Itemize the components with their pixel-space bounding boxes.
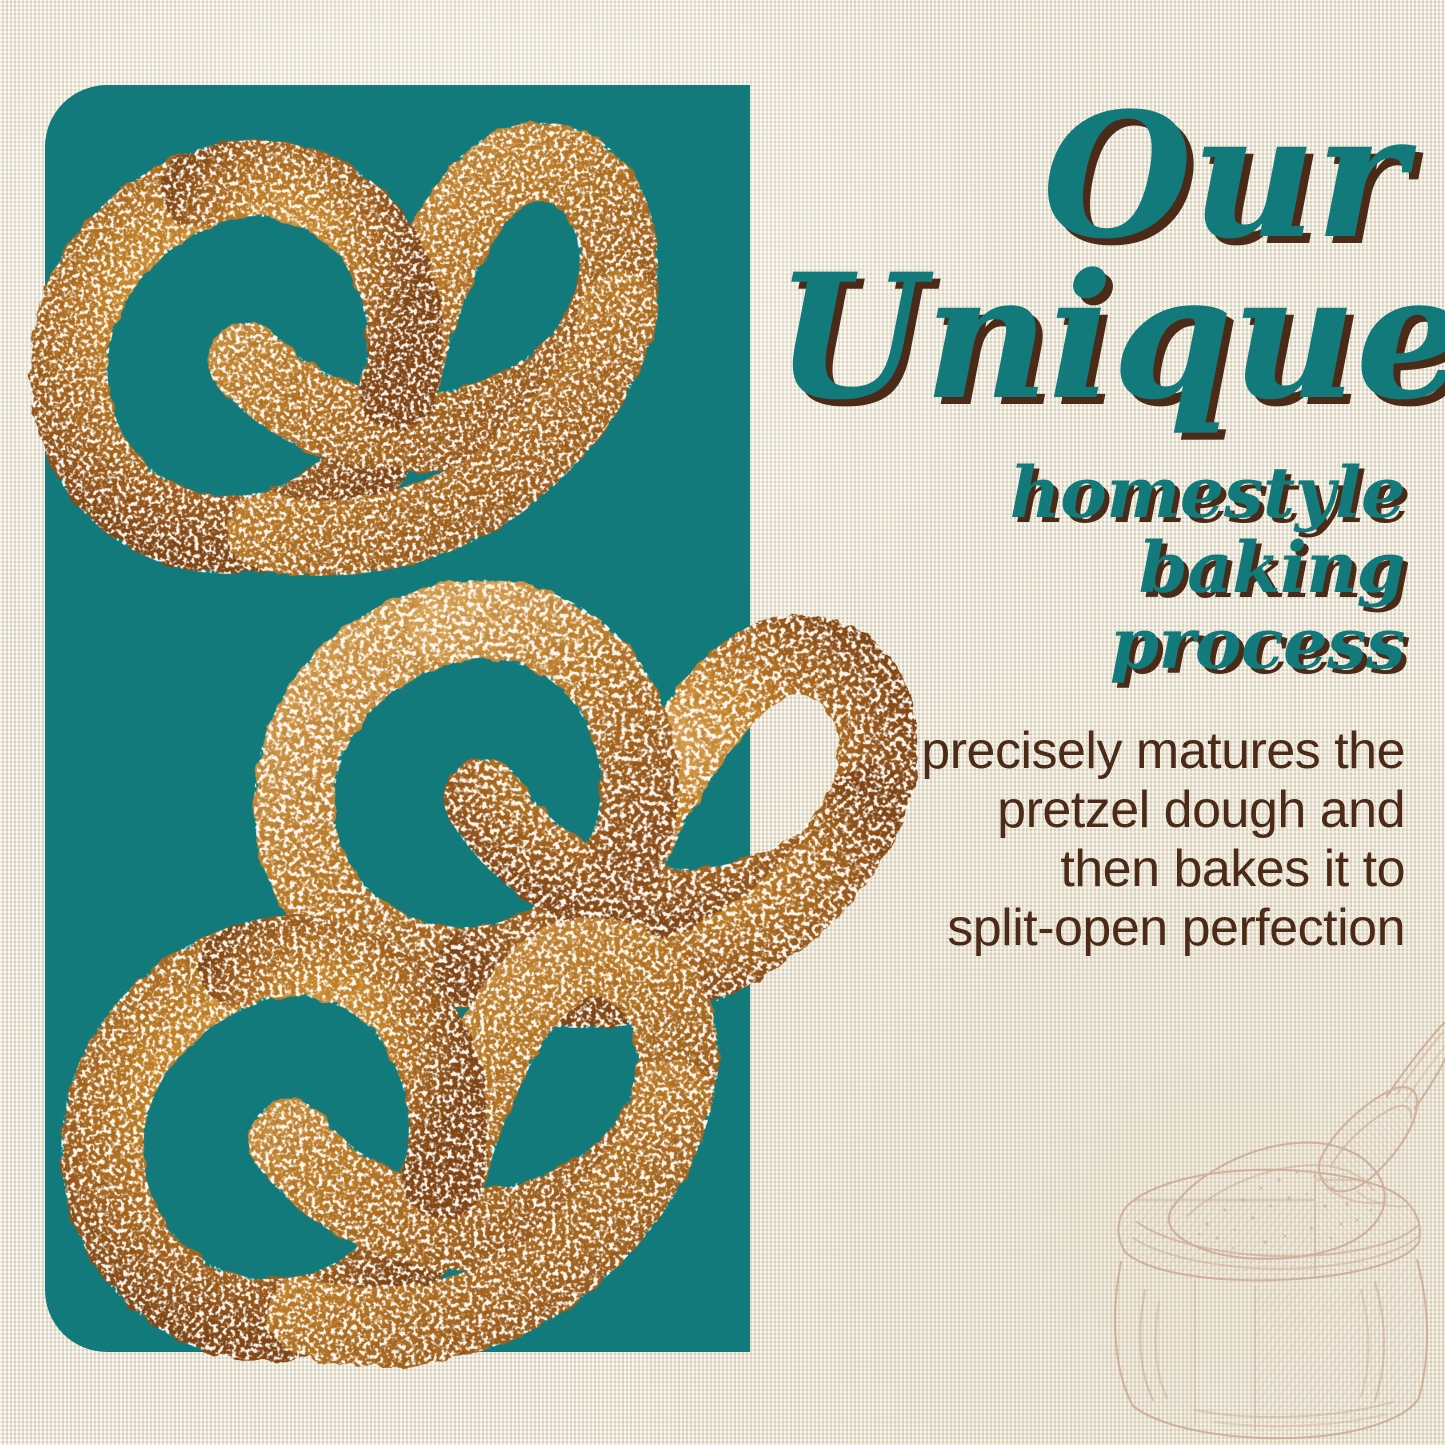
body-copy: precisely matures the pretzel dough and … bbox=[775, 722, 1405, 959]
subheadline-line-2: baking bbox=[775, 530, 1405, 606]
subheadline-line-3: process bbox=[775, 606, 1405, 682]
body-copy-line-3: then bakes it to bbox=[775, 840, 1405, 899]
page-title: Our Unique bbox=[775, 100, 1405, 413]
headline-line-2: Unique bbox=[775, 261, 1405, 412]
body-copy-line-2: pretzel dough and bbox=[775, 781, 1405, 840]
pretzel-top bbox=[20, 80, 660, 600]
pretzel-bottom bbox=[55, 850, 715, 1390]
flour-sack-with-scoop-illustration bbox=[1075, 1010, 1445, 1445]
poster-canvas: Our Unique homestyle baking process prec… bbox=[0, 0, 1445, 1445]
subheadline-line-1: homestyle bbox=[775, 455, 1405, 531]
copy-column: Our Unique homestyle baking process prec… bbox=[775, 100, 1405, 959]
headline-line-1: Our bbox=[775, 100, 1405, 251]
body-copy-line-1: precisely matures the bbox=[775, 722, 1405, 781]
body-copy-line-4: split-open perfection bbox=[775, 899, 1405, 958]
subheadline: homestyle baking process bbox=[775, 455, 1405, 682]
